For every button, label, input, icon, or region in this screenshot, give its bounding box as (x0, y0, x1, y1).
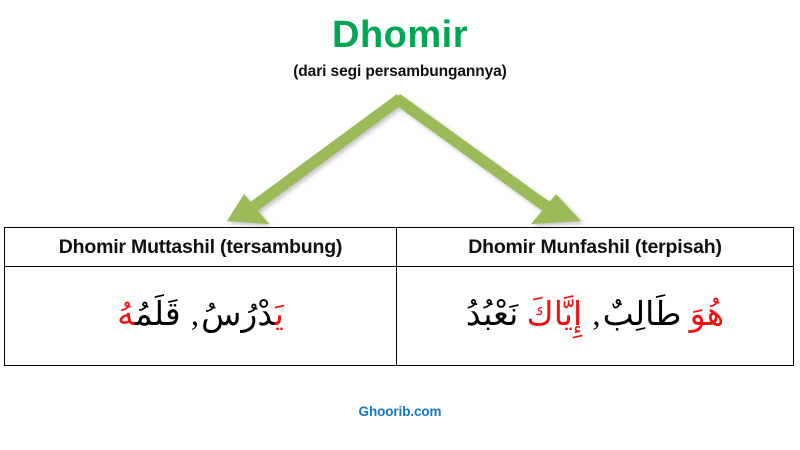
examples-muttashil: يَدْرُسُ, قَلَمُهُ (5, 267, 397, 366)
example-part-pronoun: هُوَ (690, 297, 724, 333)
arrow-to-munfashil (393, 94, 581, 224)
example-part-pronoun: هُ (117, 297, 135, 333)
example-item: قَلَمُهُ (117, 297, 180, 333)
column-header-munfashil: Dhomir Munfashil (terpisah) (397, 228, 794, 267)
example-part-pronoun: يَ (275, 297, 284, 333)
table-header-row: Dhomir Muttashil (tersambung) Dhomir Mun… (5, 228, 794, 267)
example-part-root: طَالِبٌ (603, 297, 690, 333)
example-item: هُوَ طَالِبٌ (603, 297, 724, 333)
example-part-root: قَلَمُ (135, 297, 181, 333)
page-subtitle: (dari segi persambungannya) (0, 63, 800, 81)
example-part-root: نَعْبُدُ (466, 297, 527, 333)
example-item: يَدْرُسُ (201, 297, 284, 333)
example-item: إِيَّاكَ نَعْبُدُ (466, 297, 582, 333)
category-table: Dhomir Muttashil (tersambung) Dhomir Mun… (4, 227, 794, 366)
arrow-to-muttashil (227, 94, 404, 224)
title-block: Dhomir (dari segi persambungannya) (0, 16, 800, 81)
page-title: Dhomir (0, 16, 800, 56)
example-separator: , (590, 297, 602, 333)
examples-munfashil: هُوَ طَالِبٌ, إِيَّاكَ نَعْبُدُ (397, 267, 794, 366)
table-example-row: يَدْرُسُ, قَلَمُهُ هُوَ طَالِبٌ, إِيَّاك… (5, 267, 794, 366)
example-separator: , (189, 297, 201, 333)
example-part-root: دْرُسُ (201, 297, 275, 333)
example-part-pronoun: إِيَّاكَ (527, 297, 583, 333)
footer-brand[interactable]: Ghoorib.com (0, 404, 800, 419)
column-header-muttashil: Dhomir Muttashil (tersambung) (5, 228, 397, 267)
